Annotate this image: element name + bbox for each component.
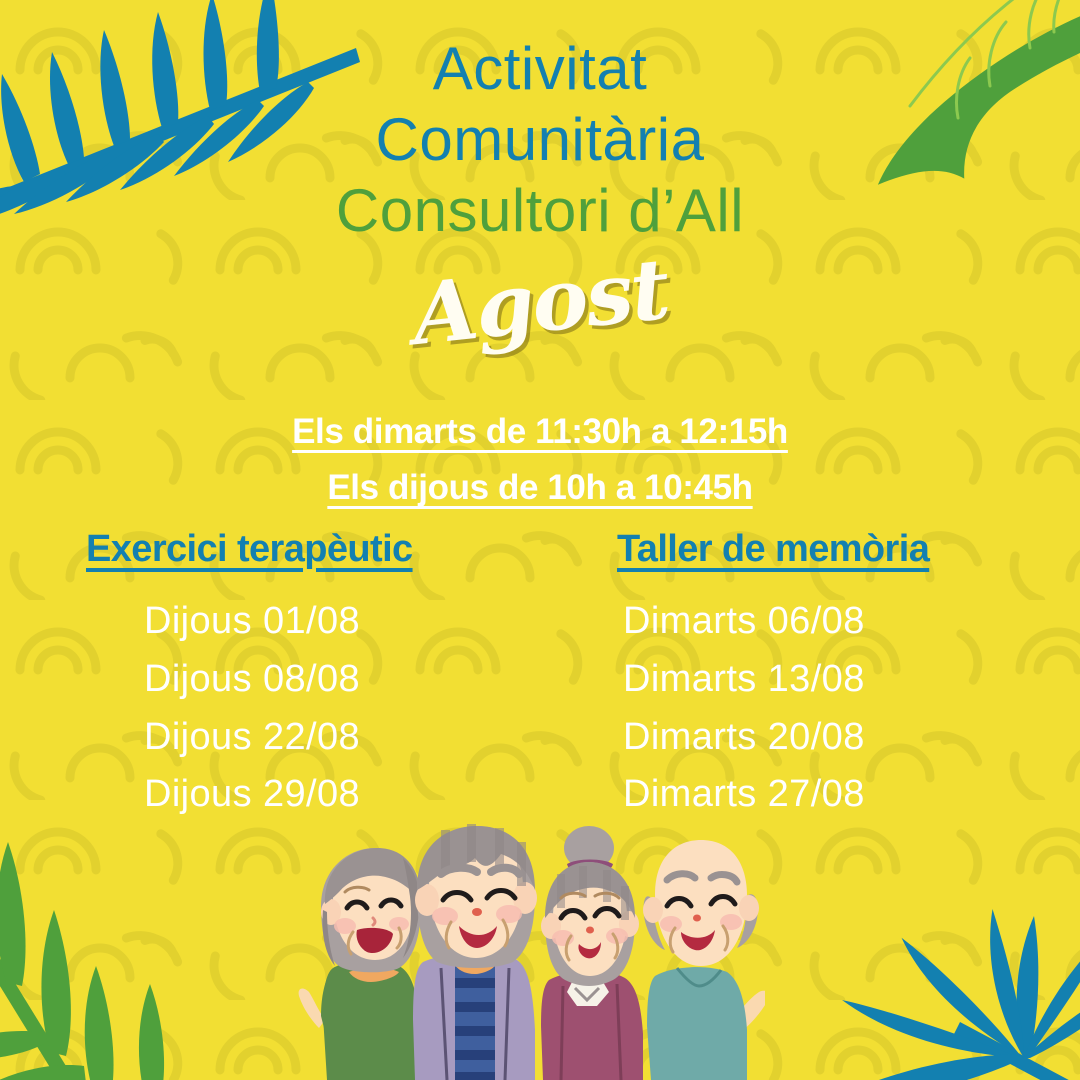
list-item: Dijous 01/08 bbox=[86, 593, 557, 651]
list-item: Dijous 22/08 bbox=[86, 709, 557, 767]
headline-line-2: Comunitària bbox=[0, 105, 1080, 176]
list-item: Dimarts 13/08 bbox=[609, 651, 1080, 709]
activity-column-exercise: Exercici terapèutic Dijous 01/08 Dijous … bbox=[0, 528, 557, 824]
schedule-line-thursday: Els dijous de 10h a 10:45h bbox=[0, 468, 1080, 508]
month-label-block: Agost bbox=[0, 252, 1080, 351]
headline-line-1: Activitat bbox=[0, 34, 1080, 105]
headline-line-3: Consultori d’All bbox=[0, 176, 1080, 247]
list-item: Dijous 08/08 bbox=[86, 651, 557, 709]
poster-canvas: Activitat Comunitària Consultori d’All A… bbox=[0, 0, 1080, 1080]
activity-columns: Exercici terapèutic Dijous 01/08 Dijous … bbox=[0, 528, 1080, 824]
headline-block: Activitat Comunitària Consultori d’All bbox=[0, 34, 1080, 246]
list-item: Dimarts 06/08 bbox=[609, 593, 1080, 651]
schedule-block: Els dimarts de 11:30h a 12:15h Els dijou… bbox=[0, 412, 1080, 524]
four-smiling-elderly-people-illustration bbox=[295, 820, 765, 1080]
list-item: Dijous 29/08 bbox=[86, 766, 557, 824]
list-item: Dimarts 27/08 bbox=[609, 766, 1080, 824]
schedule-line-tuesday: Els dimarts de 11:30h a 12:15h bbox=[0, 412, 1080, 452]
column-title-exercise: Exercici terapèutic bbox=[86, 528, 557, 571]
column-title-memory: Taller de memòria bbox=[617, 528, 1080, 571]
blue-fan-palm-icon bbox=[774, 798, 1080, 1080]
month-label: Agost bbox=[408, 239, 673, 364]
activity-column-memory: Taller de memòria Dimarts 06/08 Dimarts … bbox=[557, 528, 1080, 824]
list-item: Dimarts 20/08 bbox=[609, 709, 1080, 767]
